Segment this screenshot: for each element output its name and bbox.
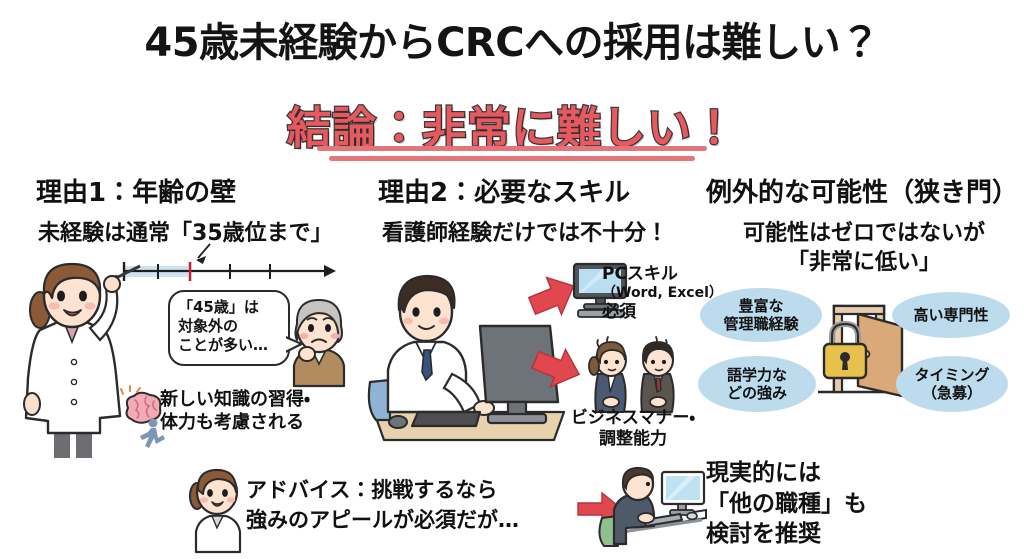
- badge-lang-line-1: 語学力な: [727, 366, 787, 384]
- note-line-1: 新しい知識の習得・: [160, 388, 360, 411]
- advice-text: アドバイス：挑戦するなら 強みのアピールが必須だが…: [246, 476, 576, 536]
- page-title: 45歳未経験からCRCへの採用は難しい？: [0, 10, 1024, 68]
- bubble-line-3: ことが多い…: [178, 336, 282, 355]
- conclusion-block: 結論：非常に難しい！: [0, 92, 1024, 156]
- realistic-line-2: 「他の職種」も: [706, 489, 1006, 520]
- badge-language-strength: 語学力な どの強み: [698, 356, 816, 412]
- advice-line-2-rest: が必須だが…: [393, 508, 519, 532]
- manner-line-1: ビジネスマナー・: [548, 408, 718, 429]
- reason-1-heading: 理由1：年齢の壁: [32, 172, 240, 211]
- badge-time-line-2: （急募）: [914, 384, 989, 402]
- female-doctor-small-illustration: [186, 466, 248, 552]
- exception-subtitle-line-2: 「非常に低い」: [714, 249, 1014, 278]
- realistic-quote-open: 「: [706, 491, 729, 517]
- reason-1-heading-text: 理由1：年齢の壁: [36, 178, 236, 208]
- conclusion-underline-2: [329, 156, 695, 161]
- subtitle-suffix: 」: [311, 221, 333, 246]
- business-manner-label: ビジネスマナー・ 調整能力: [548, 408, 718, 451]
- bubble-line-1: 「45歳」は: [178, 298, 282, 317]
- reason-1-note: 新しい知識の習得・ 体力も考慮される: [160, 388, 360, 434]
- red-arrow-to-business-manner: [532, 348, 584, 390]
- badge-time-line-1: タイミング: [914, 366, 989, 384]
- female-doctor-illustration: [12, 258, 148, 458]
- reason-2-heading: 理由2：必要なスキル: [374, 172, 634, 211]
- badge-mgr-line-2: 管理職経験: [723, 315, 798, 333]
- padlock-icon: [824, 324, 866, 378]
- advice-line-2: 強みのアピールが必須だが…: [246, 506, 576, 536]
- speech-bubble-age: 「45歳」は 対象外の ことが多い…: [168, 290, 290, 366]
- badge-spec-line-1: 高い専門性: [913, 306, 988, 324]
- advice-strength-highlight: 強みのアピール: [246, 506, 393, 536]
- advice-label-highlight: アドバイス: [246, 476, 350, 506]
- subtitle-prefix: 未経験は通常「: [38, 221, 192, 246]
- reason-2-subtitle: 看護師経験だけでは不十分！: [382, 220, 696, 249]
- badge-high-specialty: 高い専門性: [892, 292, 1010, 338]
- advice-line-1-rest: 挑戦するなら: [371, 478, 497, 502]
- column-exception: 例外的な可能性（狭き門） 可能性はゼロではないが 「非常に低い」: [700, 172, 1018, 277]
- reason-2-heading-text: 理由2：必要なスキル: [378, 178, 630, 208]
- badge-management-experience: 豊富な 管理職経験: [700, 288, 822, 342]
- realistic-line-3: 検討を推奨: [706, 519, 1006, 550]
- conclusion-underline-1: [317, 146, 707, 151]
- note-line-2: 体力も考慮される: [160, 411, 360, 434]
- exception-heading: 例外的な可能性（狭き門）: [702, 172, 1022, 211]
- exception-heading-text: 例外的な可能性（狭き門）: [706, 178, 1018, 208]
- bowing-business-people-icon: [578, 340, 696, 416]
- person-at-computer-icon: [596, 466, 708, 554]
- advice-line-1: アドバイス：挑戦するなら: [246, 476, 576, 506]
- realistic-quote-close: 」も: [821, 491, 867, 517]
- exception-subtitle: 可能性はゼロではないが 「非常に低い」: [714, 220, 1014, 277]
- badge-lang-line-2: どの強み: [727, 384, 787, 402]
- reason-1-illustration: 「45歳」は 対象外の ことが多い…: [0, 262, 360, 462]
- column-reason-2: 理由2：必要なスキル 看護師経験だけでは不十分！: [366, 172, 696, 249]
- realistic-highlight: 他の職種: [729, 489, 821, 520]
- manner-line-2: 調整能力: [548, 429, 718, 450]
- bubble-line-2: 対象外の: [178, 317, 282, 336]
- column-reason-1: 理由1：年齢の壁 未経験は通常「35歳位まで」: [14, 172, 362, 249]
- infographic-canvas: 45歳未経験からCRCへの採用は難しい？ 結論：非常に難しい！ 理由1：年齢の壁…: [0, 0, 1024, 559]
- badge-mgr-line-1: 豊富な: [723, 297, 798, 315]
- badge-timing: タイミング （急募）: [896, 356, 1008, 412]
- exception-subtitle-line-1: 可能性はゼロではないが: [714, 220, 1014, 249]
- realistic-text: 現実的には 「他の職種」も 検討を推奨: [706, 458, 1006, 550]
- realistic-line-1: 現実的には: [706, 458, 1006, 489]
- reason-1-subtitle: 未経験は通常「35歳位まで」: [38, 220, 362, 249]
- advice-separator: ：: [350, 478, 371, 502]
